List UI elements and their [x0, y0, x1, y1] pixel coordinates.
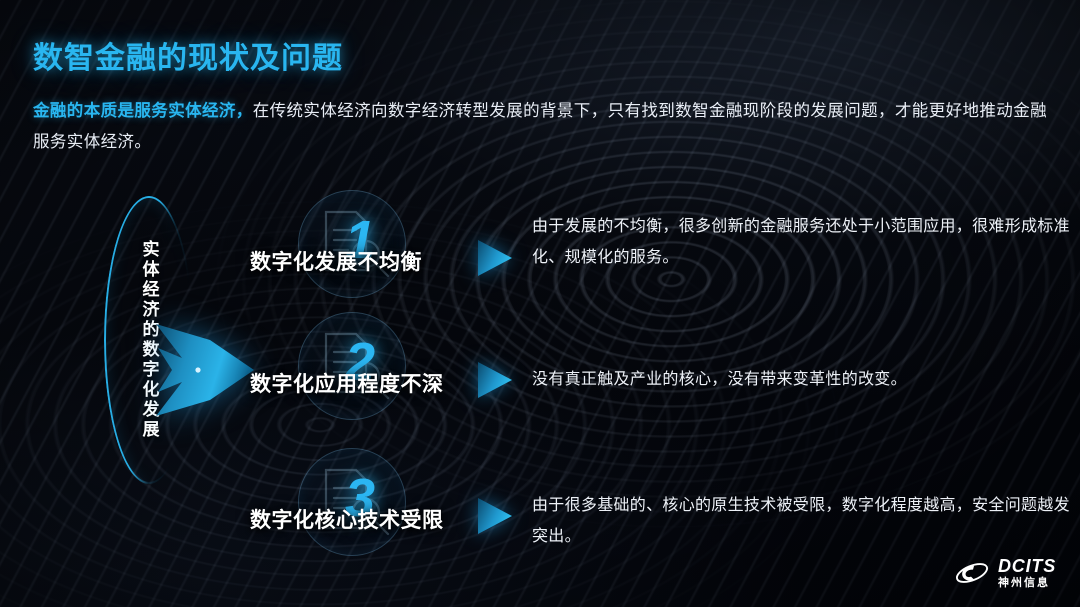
triangle-arrow-icon	[476, 496, 514, 536]
lede-highlight: 金融的本质是服务实体经济，	[33, 102, 253, 120]
logo-en: DCITS	[998, 557, 1056, 575]
issue-number-2: 2	[298, 308, 406, 416]
issue-title-1: 数字化发展不均衡	[250, 246, 470, 276]
issue-desc-3: 由于很多基础的、核心的原生技术被受限，数字化程度越高，安全问题越发突出。	[532, 490, 1080, 552]
issue-title-2: 数字化应用程度不深	[250, 368, 470, 398]
issue-number-1: 1	[298, 186, 406, 294]
logo-cn: 神州信息	[998, 578, 1056, 589]
dcits-swirl-icon	[954, 560, 990, 586]
issue-title-3: 数字化核心技术受限	[250, 504, 470, 534]
triangle-arrow-icon	[476, 360, 514, 400]
issue-desc-1: 由于发展的不均衡，很多创新的金融服务还处于小范围应用，很难形成标准化、规模化的服…	[532, 211, 1080, 273]
triangle-arrow-icon	[476, 238, 514, 278]
slide-canvas: 数智金融的现状及问题 金融的本质是服务实体经济，在传统实体经济向数字经济转型发展…	[0, 0, 1080, 607]
issue-badge-2: 2	[298, 312, 406, 420]
issue-number-3: 3	[298, 444, 406, 552]
slide-lede: 金融的本质是服务实体经济，在传统实体经济向数字经济转型发展的背景下，只有找到数智…	[33, 96, 1051, 158]
big-right-arrow-icon	[152, 318, 258, 422]
issue-badge-1: 1	[298, 190, 406, 298]
issue-badge-3: 3	[298, 448, 406, 556]
issue-row-2: 2 数字化应用程度不深 没有真正触及产业的核心，没有带来变革性的改变。	[250, 312, 1080, 428]
issue-row-1: 1 数字化发展不均衡 由于发展的不均衡，很多创新的金融服务还处于小范围应用，很难…	[250, 190, 1080, 306]
issue-desc-2: 没有真正触及产业的核心，没有带来变革性的改变。	[532, 364, 1080, 395]
logo-text: DCITS 神州信息	[998, 557, 1056, 589]
slide-title: 数智金融的现状及问题	[33, 33, 343, 77]
issue-row-3: 3 数字化核心技术受限 由于很多基础的、核心的原生技术被受限，数字化程度越高，安…	[250, 448, 1080, 564]
company-logo: DCITS 神州信息	[954, 557, 1056, 589]
